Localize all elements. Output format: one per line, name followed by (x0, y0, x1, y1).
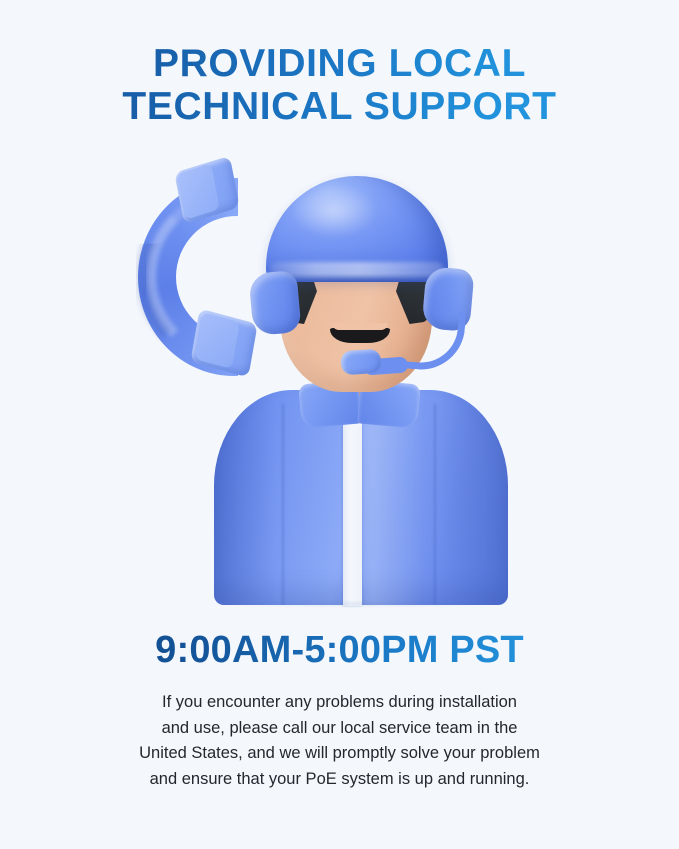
headset-mic-tip (340, 349, 382, 376)
agent-helmet (266, 176, 448, 282)
torso-left-shading (214, 390, 276, 605)
left-arm-seam (282, 404, 284, 605)
support-poster: PROVIDING LOCAL TECHNICAL SUPPORT (0, 0, 679, 849)
right-arm-seam (434, 404, 436, 605)
support-hours: 9:00AM-5:00PM PST (0, 629, 679, 672)
figure-ground-shadow (206, 600, 506, 608)
page-title: PROVIDING LOCAL TECHNICAL SUPPORT (0, 42, 679, 128)
torso-right-shading (438, 390, 508, 605)
helmet-gloss (290, 184, 378, 238)
support-agent-icon (196, 150, 526, 610)
support-description: If you encounter any problems during ins… (0, 690, 679, 792)
support-illustration (0, 150, 679, 610)
headset-earcup-left (248, 270, 301, 336)
